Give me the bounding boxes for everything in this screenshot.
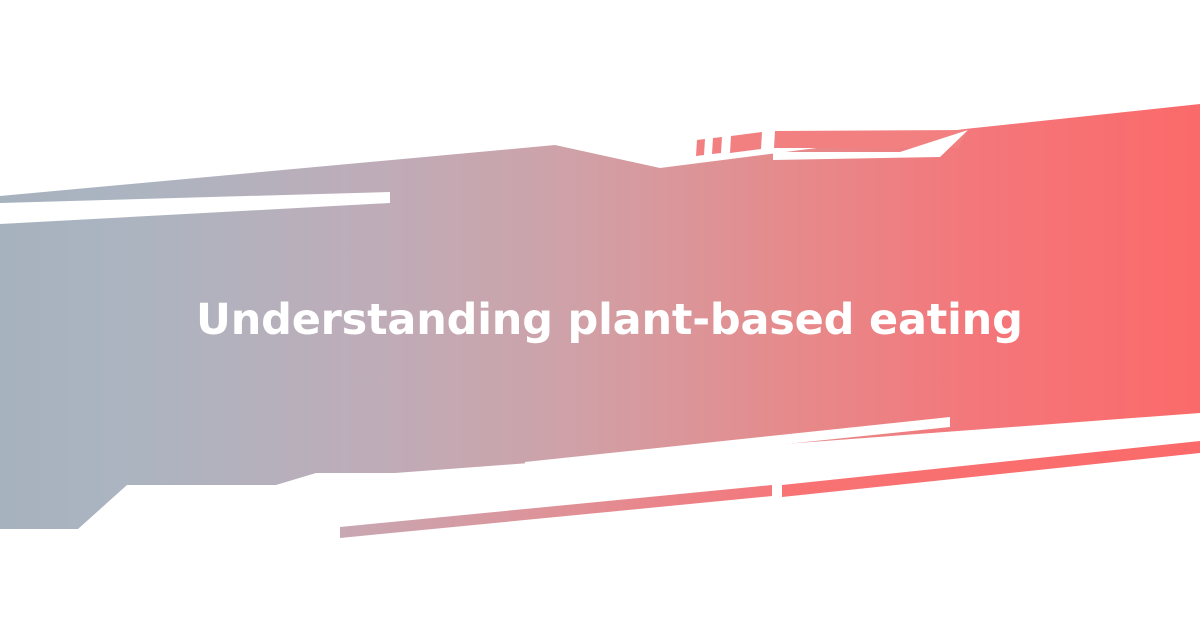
banner-background-graphic	[0, 0, 1200, 630]
banner-card: Understanding plant-based eating	[0, 0, 1200, 630]
dash-mark-3	[730, 132, 762, 153]
dash-mark-1	[696, 139, 705, 156]
bottom-accent-stripe-right	[782, 441, 1200, 497]
bottom-accent-stripe-left	[340, 485, 772, 538]
dash-mark-2	[712, 137, 722, 154]
